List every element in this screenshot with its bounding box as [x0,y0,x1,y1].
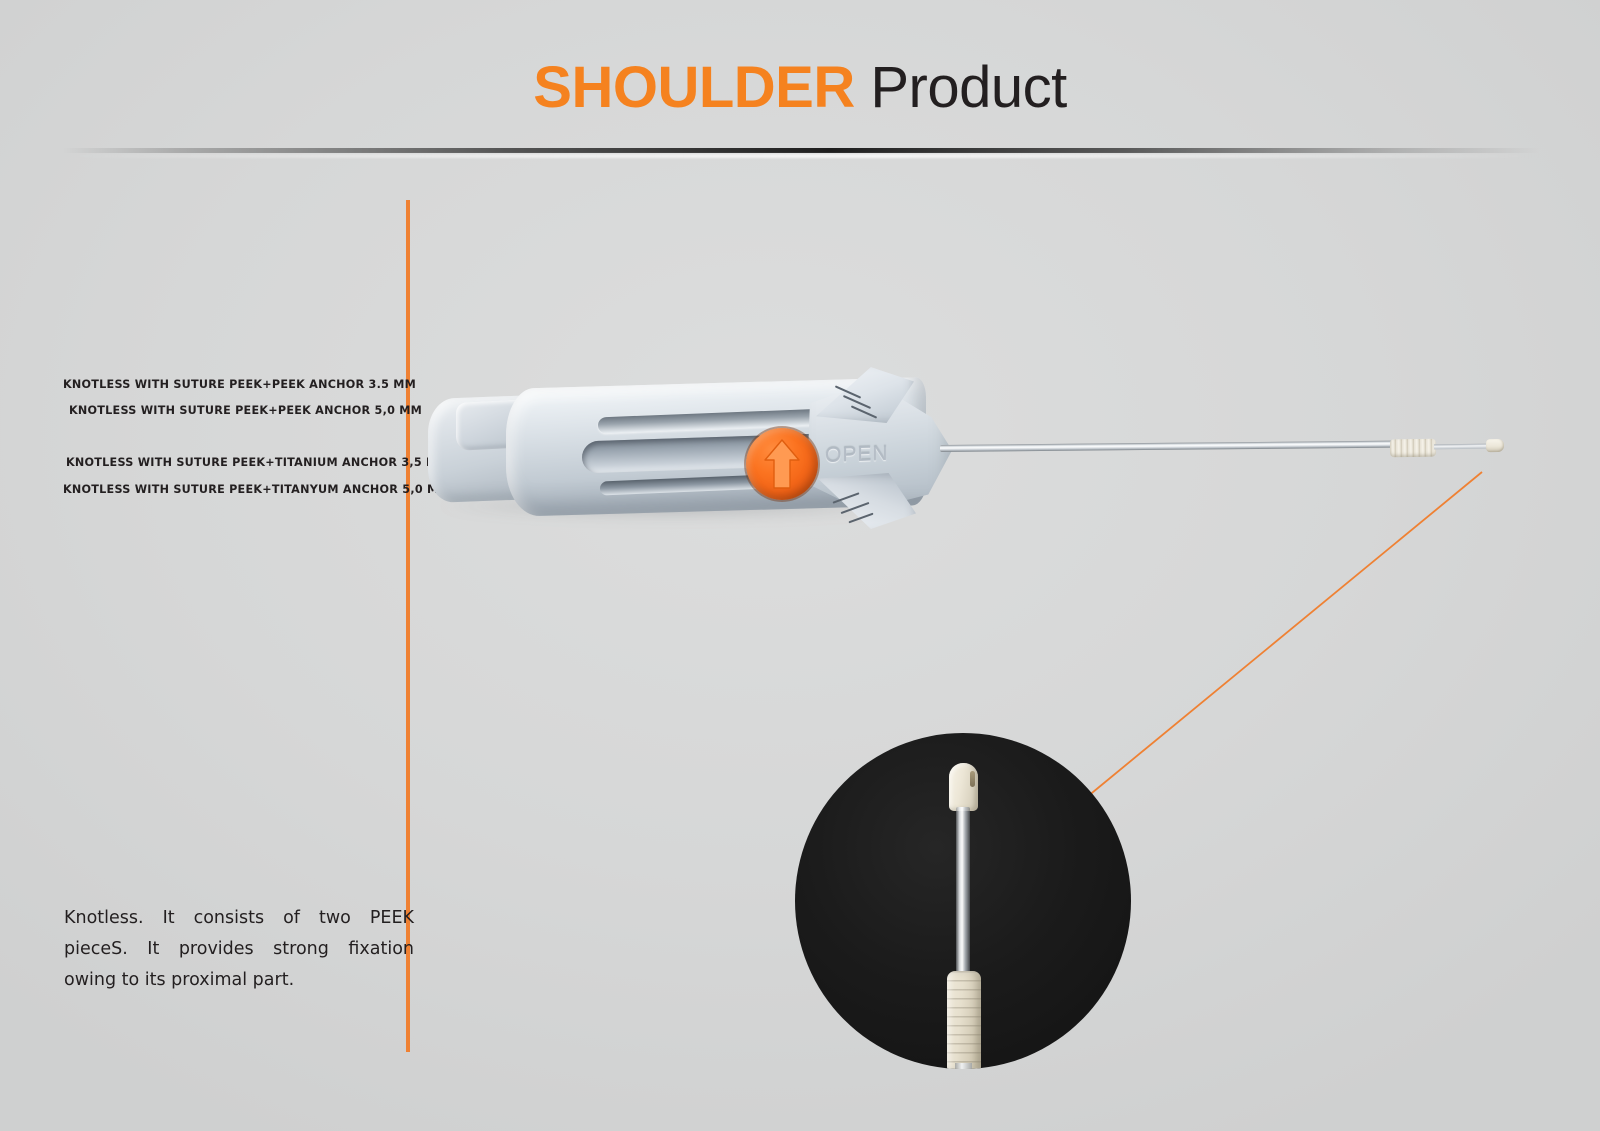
detail-magnifier-circle [795,733,1131,1069]
page-title-highlight: SHOULDER [533,55,854,120]
detail-anchor-shaft [956,807,970,977]
header-divider [62,148,1540,153]
spec-label-peek-peek-35: KNOTLESS WITH SUTURE PEEK+PEEK ANCHOR 3.… [63,378,416,391]
detail-anchor-threaded-body [947,971,981,1069]
anchor-tip-cap [1486,439,1504,452]
spec-label-peek-titanium-35: KNOTLESS WITH SUTURE PEEK+TITANIUM ANCHO… [66,456,449,469]
detail-anchor-cap [949,763,978,811]
page-title-rest: Product [855,55,1067,120]
product-description: Knotless. It consists of two PEEK pieceS… [64,903,414,996]
open-embossed-label: OPEN [825,442,889,468]
spec-label-peek-peek-50: KNOTLESS WITH SUTURE PEEK+PEEK ANCHOR 5,… [69,404,422,417]
product-device-image: OPEN [420,355,1530,555]
anchor-threaded-body [1390,439,1436,458]
detail-cap-slot [970,771,975,787]
spec-label-peek-titanyum-50: KNOTLESS WITH SUTURE PEEK+TITANYUM ANCHO… [63,483,450,496]
cannula-shaft [940,441,1395,452]
up-arrow-icon [761,438,803,490]
header-divider-highlight [62,154,1540,158]
detail-anchor-base [955,1063,972,1069]
page-title: SHOULDER Product [0,52,1600,124]
anchor-inner-rod [1434,444,1489,450]
release-knob[interactable] [746,428,818,500]
product-sheet-page: SHOULDER Product KNOTLESS WITH SUTURE PE… [0,0,1600,1131]
